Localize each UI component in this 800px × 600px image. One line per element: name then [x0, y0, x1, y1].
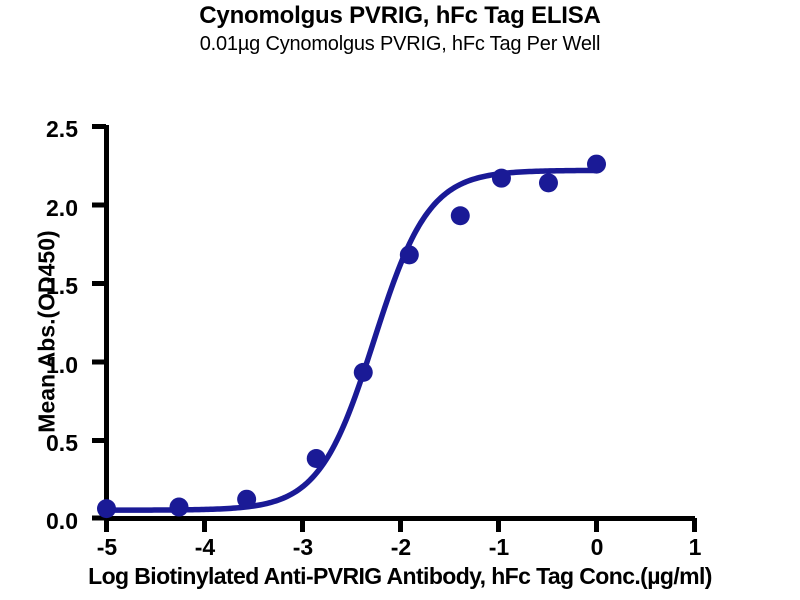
data-point — [307, 449, 326, 468]
x-tick-label-2: -3 — [273, 534, 333, 561]
data-point — [170, 498, 189, 517]
data-point — [492, 169, 511, 188]
y-tick-marks — [92, 127, 106, 519]
data-point — [354, 363, 373, 382]
data-point — [400, 245, 419, 264]
x-tick-label-1: -4 — [175, 534, 235, 561]
fit-curve — [107, 170, 598, 510]
chart-figure: Cynomolgus PVRIG, hFc Tag ELISA 0.01µg C… — [0, 0, 800, 600]
data-point — [587, 155, 606, 174]
x-tick-label-0: -5 — [77, 534, 137, 561]
x-tick-label-3: -2 — [371, 534, 431, 561]
x-tick-label-5: 0 — [567, 534, 627, 561]
data-point — [451, 206, 470, 225]
x-tick-label-6: 1 — [665, 534, 725, 561]
y-axis-title: Mean Abs.(OD450) — [34, 132, 61, 532]
plot-area — [0, 0, 800, 600]
data-point — [237, 490, 256, 509]
x-axis-title: Log Biotinylated Anti-PVRIG Antibody, hF… — [0, 563, 800, 590]
data-point — [539, 173, 558, 192]
data-point-group — [97, 155, 606, 519]
x-tick-label-4: -1 — [469, 534, 529, 561]
data-point — [97, 499, 116, 518]
